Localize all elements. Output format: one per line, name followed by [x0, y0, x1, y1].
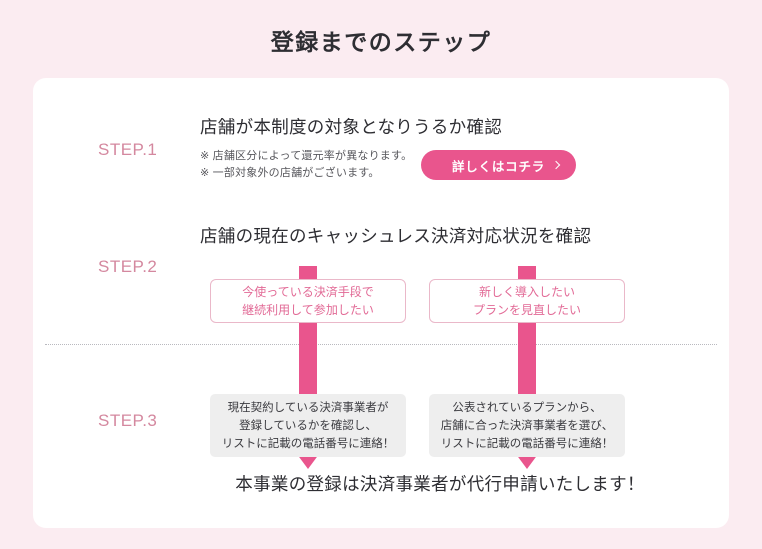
- result-box-existing-provider: 現在契約している決済事業者が 登録しているかを確認し、 リストに記載の電話番号に…: [210, 394, 406, 457]
- detail-button[interactable]: 詳しくはコチラ: [421, 150, 576, 180]
- choice-option-continue[interactable]: 今使っている決済手段で 継続利用して参加したい: [210, 279, 406, 323]
- choice-line-2: プランを見直したい: [473, 301, 581, 319]
- step-3-label: STEP.3: [98, 411, 157, 431]
- detail-button-label: 詳しくはコチラ: [452, 156, 545, 175]
- choice-line-1: 今使っている決済手段で: [242, 283, 373, 301]
- choice-option-new-plan[interactable]: 新しく導入したい プランを見直したい: [429, 279, 625, 323]
- result-line-3: リストに記載の電話番号に連絡！: [441, 435, 614, 453]
- page-title: 登録までのステップ: [0, 23, 762, 57]
- result-line-1: 公表されているプランから、: [452, 399, 601, 417]
- choice-line-2: 継続利用して参加したい: [242, 301, 374, 319]
- result-line-3: リストに記載の電話番号に連絡！: [222, 435, 395, 453]
- result-line-2: 店舗に合った決済事業者を選び、: [441, 417, 614, 435]
- step-1-note-1: ※ 店舗区分によって還元率が異なります。: [200, 148, 412, 165]
- step-1-note-2: ※ 一部対象外の店舗がございます。: [200, 165, 412, 182]
- step-2-label: STEP.2: [98, 257, 157, 277]
- step-3-conclusion: 本事業の登録は決済事業者が代行申請いたします！: [200, 471, 680, 496]
- result-line-1: 現在契約している決済事業者が: [228, 399, 389, 417]
- steps-card: STEP.1 店舗が本制度の対象となりうるか確認 ※ 店舗区分によって還元率が異…: [33, 78, 729, 528]
- result-box-new-provider: 公表されているプランから、 店舗に合った決済事業者を選び、 リストに記載の電話番…: [429, 394, 625, 457]
- step-1-label: STEP.1: [98, 140, 157, 160]
- step-2-heading: 店舗の現在のキャッシュレス決済対応状況を確認: [200, 223, 591, 248]
- result-line-2: 登録しているかを確認し、: [239, 417, 377, 435]
- chevron-right-icon: [552, 161, 560, 169]
- choice-line-1: 新しく導入したい: [479, 283, 575, 301]
- step-1-notes: ※ 店舗区分によって還元率が異なります。 ※ 一部対象外の店舗がございます。: [200, 148, 412, 182]
- step-1-heading: 店舗が本制度の対象となりうるか確認: [200, 114, 502, 139]
- section-divider: [45, 344, 717, 345]
